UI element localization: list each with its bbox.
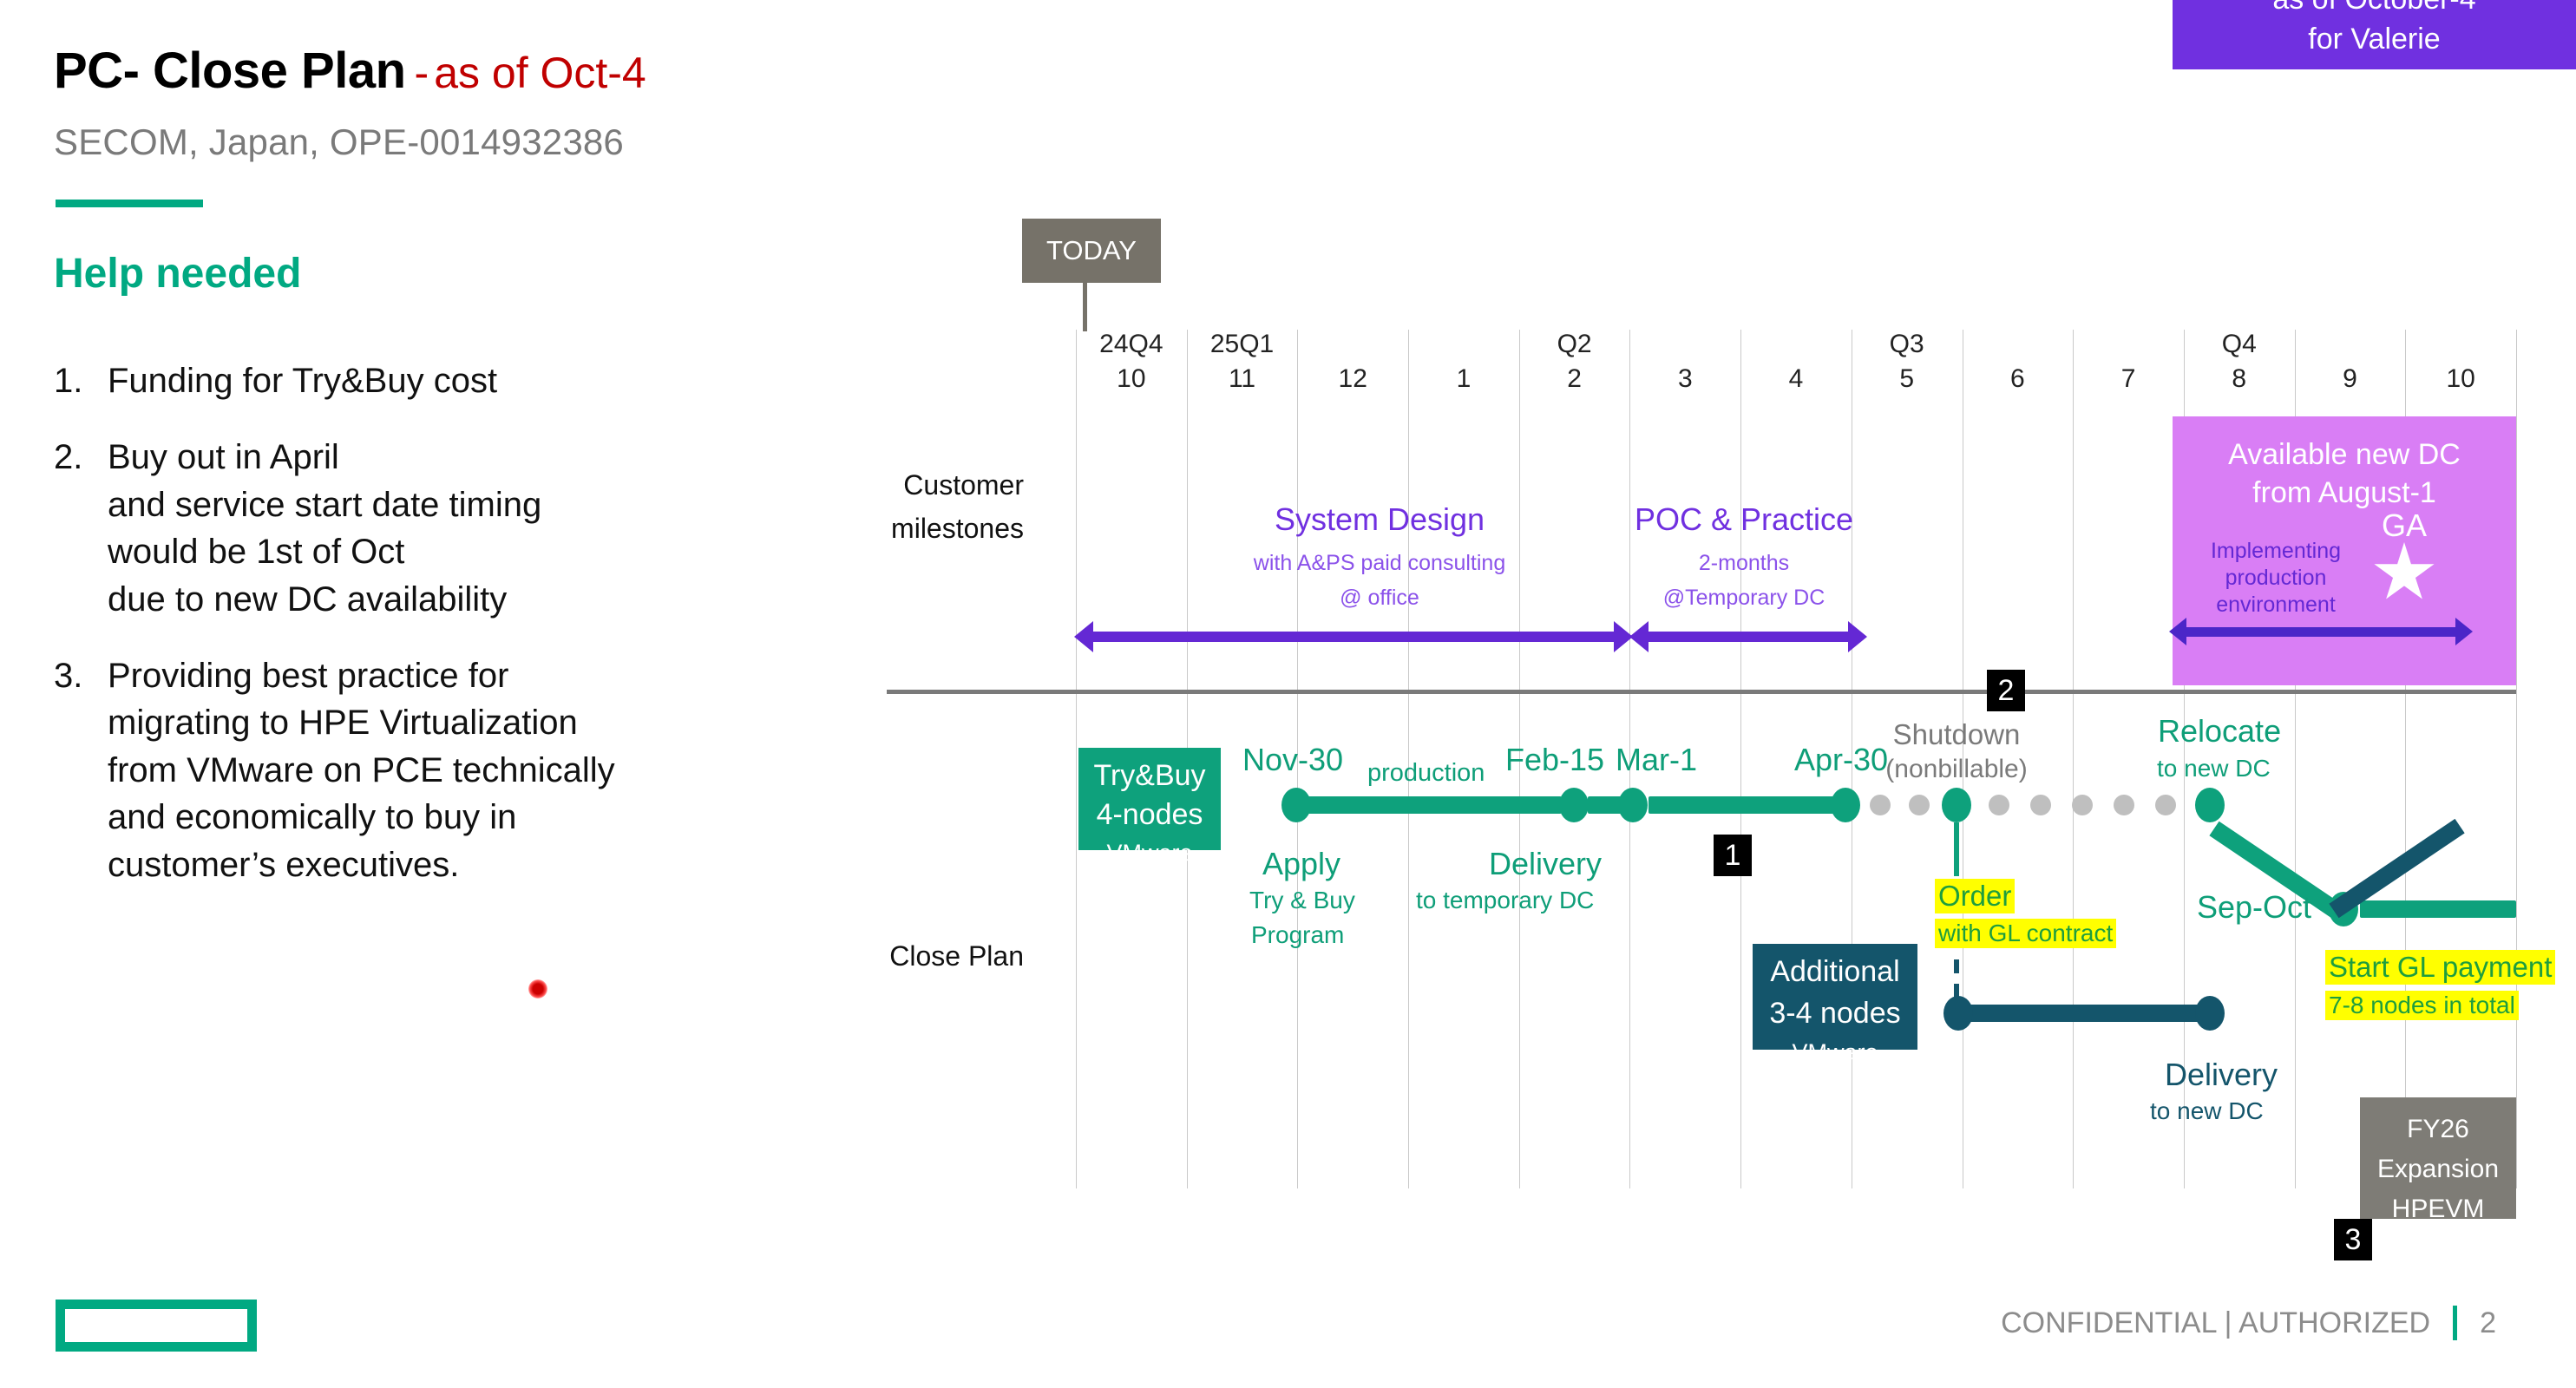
list-item-text: Funding for Try&Buy cost: [108, 357, 497, 404]
fy26-line2: Expansion: [2360, 1149, 2516, 1189]
label-nov30: Nov-30: [1242, 742, 1343, 778]
progress-dot: [1989, 795, 2009, 815]
dc-implementation-arrow: [2186, 627, 2455, 637]
label-mar1: Mar-1: [1616, 742, 1697, 778]
list-item-line: Funding for Try&Buy cost: [108, 357, 497, 404]
confidential-label: CONFIDENTIAL | AUTHORIZED: [2001, 1306, 2430, 1340]
timeline-month-4: 4: [1740, 364, 1852, 394]
page-title: PC- Close Plan-as of Oct-4: [54, 42, 646, 100]
fy26-expansion-box: FY26 Expansion HPEVM: [2360, 1097, 2516, 1219]
additional-nodes-box: Additional 3-4 nodes VMware: [1753, 944, 1917, 1050]
trybuy-box: Try&Buy 4-nodes VMware: [1078, 748, 1221, 850]
label-shutdown-sub: (nonbillable): [1831, 755, 2082, 784]
footer-divider: [2453, 1306, 2457, 1340]
milestone-poc-sub2: @Temporary DC: [1570, 586, 1917, 611]
progress-dot: [2030, 795, 2051, 815]
additional-box-line2: 3-4 nodes: [1753, 992, 1917, 1034]
title-asof: as of Oct-4: [434, 49, 646, 97]
list-item-line: and economically to buy in: [108, 794, 615, 841]
timeline-gridline: [1076, 330, 1077, 1188]
trybuy-box-line2: 4-nodes: [1078, 795, 1221, 835]
label-gl-payment: Start GL payment: [2325, 950, 2555, 985]
timeline-month-5: 5: [1852, 364, 1963, 394]
fy26-line3: HPEVM: [2392, 1195, 2485, 1223]
milestone-dot-shutdown: [1942, 788, 1971, 822]
timeline-gridline: [2516, 330, 2517, 1188]
list-item: 1. Funding for Try&Buy cost: [54, 357, 878, 404]
label-delivery: Delivery: [1489, 846, 1602, 882]
dc-box-title-line: from August-1: [2173, 474, 2516, 512]
list-item-line: due to new DC availability: [108, 576, 541, 623]
timeline-gridline: [1740, 330, 1741, 1188]
note-line-1: as of October-4: [2173, 0, 2576, 19]
green-bar-seg1: [1301, 796, 1562, 814]
timeline-month-1: 1: [1408, 364, 1519, 394]
label-relocate-sub: to new DC: [2157, 755, 2271, 782]
timeline-quarter-24Q4: 24Q4: [1076, 330, 1187, 359]
milestone-dot-nov30: [1281, 788, 1311, 822]
label-delivery-newdc-sub: to new DC: [2150, 1097, 2264, 1125]
milestone-dot-apr30: [1831, 788, 1860, 822]
label-gl-payment-sub: 7-8 nodes in total: [2325, 991, 2519, 1020]
title-main: PC- Close Plan: [54, 43, 406, 99]
note-for-valerie: as of October-4 for Valerie: [2173, 0, 2576, 69]
label-order: Order: [1935, 879, 2015, 913]
milestone-dot-delivery-newdc: [2195, 996, 2225, 1031]
progress-dot: [2155, 795, 2176, 815]
help-needed-heading: Help needed: [54, 250, 301, 298]
dc-box-title: Available new DC from August-1: [2173, 435, 2516, 512]
milestone-poc-title: POC & Practice: [1570, 501, 1917, 538]
green-bar-seg2: [1588, 796, 1622, 814]
label-order-sub: with GL contract: [1935, 919, 2116, 948]
list-item-number: 3.: [54, 652, 108, 888]
subtitle: SECOM, Japan, OPE-0014932386: [54, 121, 624, 163]
list-item-text: Providing best practice for migrating to…: [108, 652, 615, 888]
additional-box-line1: Additional: [1753, 951, 1917, 992]
green-bar-seg3: [1649, 796, 1857, 814]
badge-1: 1: [1714, 835, 1752, 876]
ga-label: GA: [2382, 507, 2427, 544]
progress-dot: [2072, 795, 2093, 815]
help-needed-list: 1. Funding for Try&Buy cost 2. Buy out i…: [54, 357, 878, 918]
list-item-number: 1.: [54, 357, 108, 404]
milestone-system-design-sub2: @ office: [1154, 586, 1605, 611]
label-delivery-newdc: Delivery: [2165, 1057, 2278, 1093]
list-item-line: from VMware on PCE technically: [108, 747, 615, 794]
today-marker-stem: [1083, 283, 1087, 331]
timeline-quarter-Q2: Q2: [1519, 330, 1630, 359]
poc-practice-arrow: [1649, 632, 1848, 642]
milestone-dot-relocate: [2195, 788, 2225, 822]
timeline-month-10: 10: [1076, 364, 1187, 394]
timeline-month-3: 3: [1629, 364, 1740, 394]
label-feb15: Feb-15: [1505, 742, 1604, 778]
milestone-system-design-title: System Design: [1154, 501, 1605, 538]
timeline-header: 1011121234567891024Q425Q1Q2Q3Q4: [1076, 330, 2516, 397]
dc-box-title-line: Available new DC: [2173, 435, 2516, 474]
milestone-system-design-sub1: with A&PS paid consulting: [1154, 551, 1605, 576]
timeline-quarter-25Q1: 25Q1: [1187, 330, 1298, 359]
list-item-line: would be 1st of Oct: [108, 528, 541, 575]
footer: CONFIDENTIAL | AUTHORIZED 2: [2001, 1306, 2496, 1340]
row-label-line: Customer: [711, 464, 1024, 507]
additional-box-line3: VMware: [1753, 1039, 1917, 1066]
timeline-quarter-Q3: Q3: [1852, 330, 1963, 359]
shutdown-stem: [1954, 822, 1959, 876]
label-relocate: Relocate: [2158, 713, 2281, 750]
list-item-line: Providing best practice for: [108, 652, 615, 699]
row-label-close-plan: Close Plan: [711, 935, 1024, 979]
timeline-month-10: 10: [2405, 364, 2516, 394]
hpe-logo: [56, 1300, 257, 1352]
progress-dot: [2114, 795, 2134, 815]
timeline-quarter-Q4: Q4: [2184, 330, 2295, 359]
today-marker: TODAY: [1022, 219, 1161, 283]
timeline-month-11: 11: [1187, 364, 1298, 394]
list-item-text: Buy out in April and service start date …: [108, 434, 541, 623]
milestone-dot-feb15: [1559, 788, 1589, 822]
list-item-line: migrating to HPE Virtualization: [108, 699, 615, 746]
list-item-line: customer’s executives.: [108, 841, 615, 888]
trybuy-box-line1: Try&Buy: [1078, 756, 1221, 795]
section-divider: [887, 690, 2516, 694]
dc-box-sub: Implementing production environment: [2185, 538, 2367, 619]
milestone-dot-order: [1943, 996, 1973, 1031]
label-shutdown: Shutdown: [1831, 718, 2082, 751]
green-bar-seg4: [2360, 900, 2516, 918]
title-accent-rule: [56, 200, 203, 207]
timeline-month-12: 12: [1297, 364, 1408, 394]
fy26-line1: FY26: [2360, 1110, 2516, 1149]
label-sepoct: Sep-Oct: [2197, 889, 2311, 926]
page-number: 2: [2480, 1306, 2496, 1340]
timeline-month-2: 2: [1519, 364, 1630, 394]
badge-3: 3: [2334, 1219, 2372, 1260]
list-item-number: 2.: [54, 434, 108, 623]
timeline-month-7: 7: [2073, 364, 2184, 394]
list-item-line: and service start date timing: [108, 481, 541, 528]
label-apply: Apply: [1262, 846, 1340, 882]
trybuy-box-line3: VMware: [1078, 840, 1221, 867]
row-label-line: milestones: [711, 507, 1024, 551]
progress-dot: [1870, 795, 1891, 815]
list-item: 3. Providing best practice for migrating…: [54, 652, 878, 888]
milestone-dot-mar1: [1618, 788, 1648, 822]
badge-2: 2: [1987, 670, 2025, 711]
system-design-arrow: [1093, 632, 1614, 642]
note-line-2: for Valerie: [2173, 19, 2576, 59]
milestone-poc-sub1: 2-months: [1570, 551, 1917, 576]
slide: PC- Close Plan-as of Oct-4 SECOM, Japan,…: [0, 0, 2576, 1388]
cursor-click-indicator: [528, 979, 547, 998]
timeline-month-9: 9: [2295, 364, 2406, 394]
label-production: production: [1367, 759, 1485, 788]
timeline-month-8: 8: [2184, 364, 2295, 394]
label-apply-sub2: Program: [1251, 921, 1344, 949]
list-item-line: Buy out in April: [108, 434, 541, 481]
progress-dot: [1909, 795, 1930, 815]
row-label-customer-milestones: Customer milestones: [711, 464, 1024, 550]
label-delivery-sub: to temporary DC: [1416, 887, 1594, 914]
navy-bar: [1968, 1005, 2211, 1022]
title-dash: -: [415, 49, 429, 97]
label-apply-sub1: Try & Buy: [1249, 887, 1355, 914]
timeline-month-6: 6: [1963, 364, 2074, 394]
